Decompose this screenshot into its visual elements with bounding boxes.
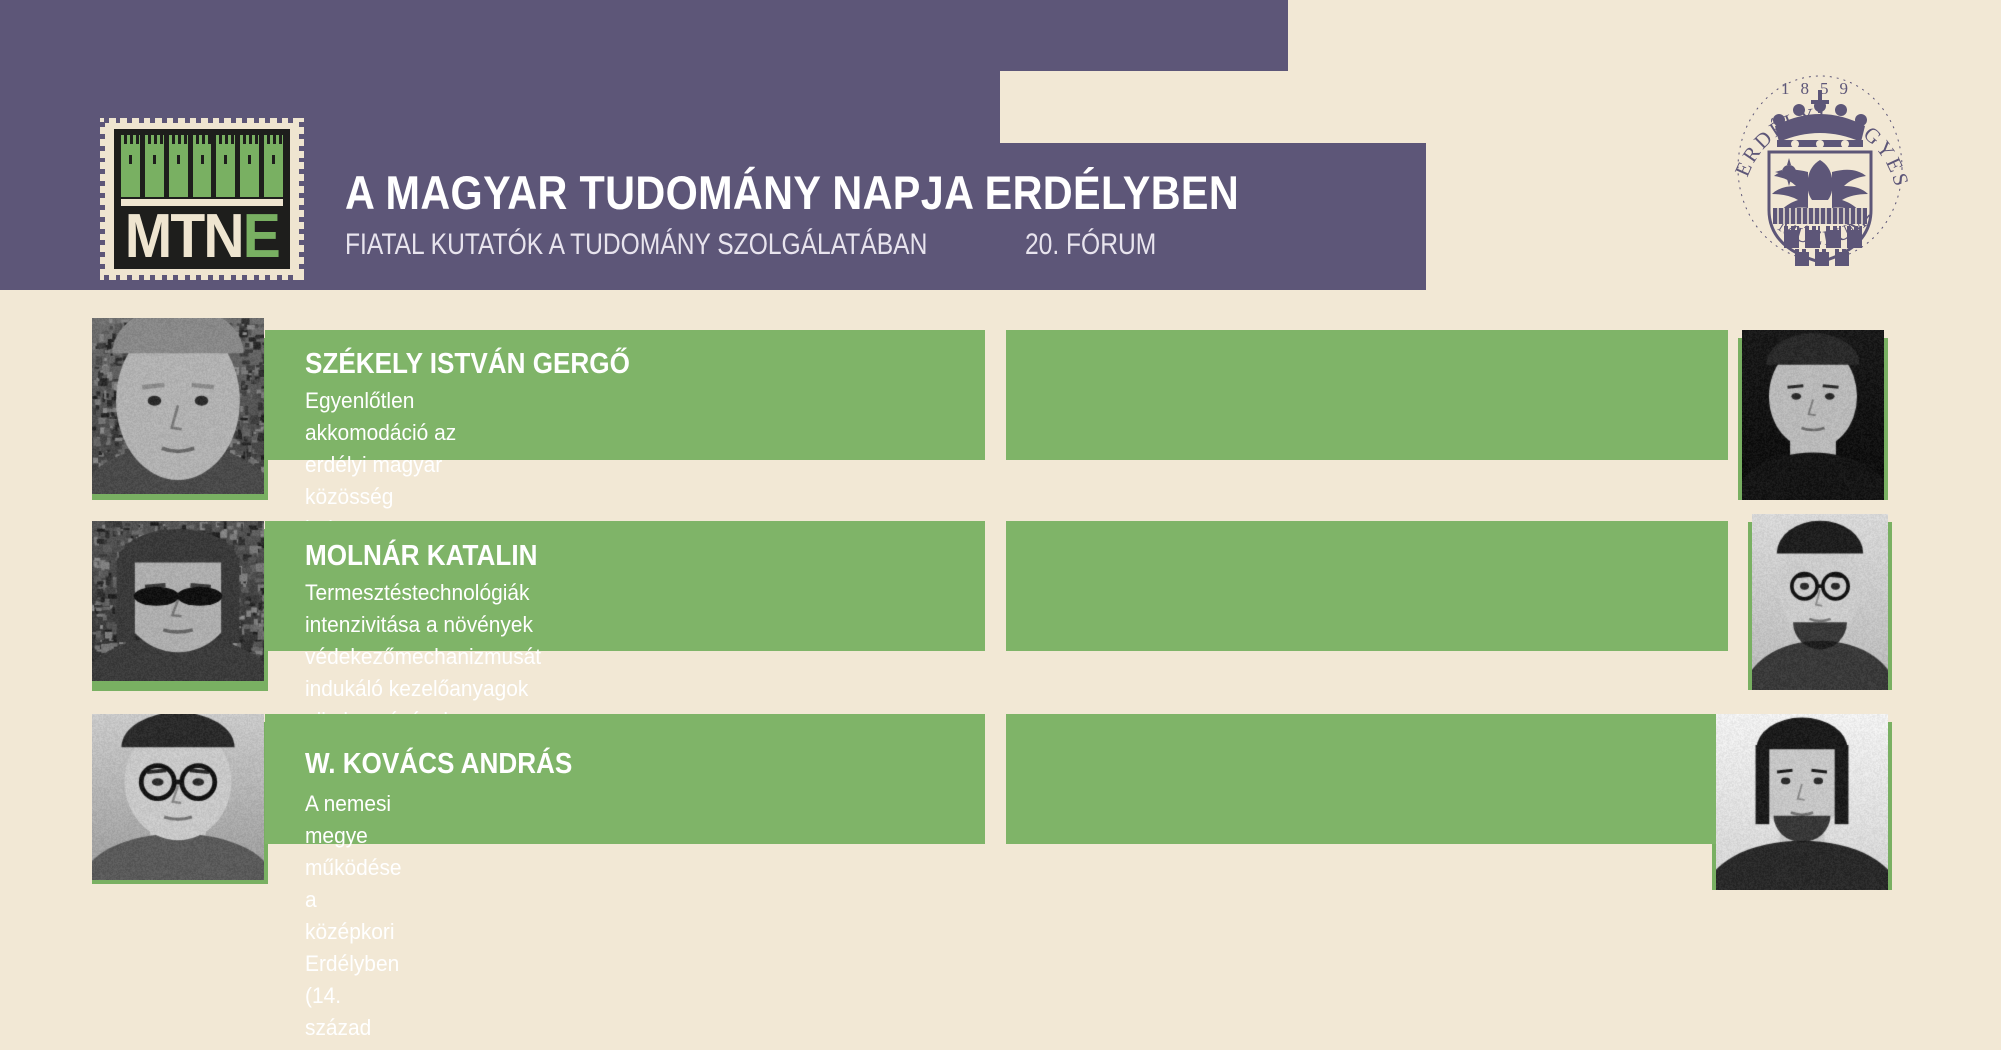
stamp-perforation bbox=[208, 275, 213, 280]
stamp-perforation bbox=[127, 275, 132, 280]
stamp-perforation bbox=[299, 181, 304, 186]
stamp-perforation bbox=[196, 118, 201, 123]
stamp-perforation bbox=[288, 275, 293, 280]
stamp-perforation bbox=[162, 275, 167, 280]
stamp-perforation bbox=[100, 240, 105, 245]
presenter-description: Termesztéstechnológiák intenzivitása a n… bbox=[305, 577, 541, 737]
stamp-perforation bbox=[231, 275, 236, 280]
stamp-perforation bbox=[299, 134, 304, 139]
mtne-wordmark: MTNE bbox=[121, 208, 283, 265]
stamp-perforation bbox=[299, 169, 304, 174]
stamp-perforation bbox=[299, 193, 304, 198]
presenter-photo bbox=[1742, 330, 1884, 500]
stamp-perforation bbox=[254, 275, 259, 280]
poster-subtitle: FIATAL KUTATÓK A TUDOMÁNY SZOLGÁLATÁBAN bbox=[345, 228, 927, 262]
stamp-perforation bbox=[100, 264, 105, 269]
eme-crest-svg: ERDÉLYI EGYESÜLET MÚZEUM- 1859 bbox=[1723, 68, 1918, 268]
stamp-perforation bbox=[104, 275, 109, 280]
stamp-perforation bbox=[100, 193, 105, 198]
card-panel bbox=[1006, 521, 1728, 651]
stamp-perforation bbox=[100, 158, 105, 163]
stamp-perforation bbox=[100, 205, 105, 210]
stamp-perforation bbox=[208, 118, 213, 123]
eme-crest-logo: ERDÉLYI EGYESÜLET MÚZEUM- 1859 bbox=[1723, 68, 1918, 268]
stamp-perforation bbox=[265, 118, 270, 123]
stamp-perforation bbox=[173, 275, 178, 280]
stamp-perforation bbox=[100, 146, 105, 151]
presenter-name: W. KOVÁCS ANDRÁS bbox=[305, 748, 572, 781]
poster-title: A MAGYAR TUDOMÁNY NAPJA ERDÉLYBEN bbox=[345, 165, 1239, 220]
stamp-perforation bbox=[288, 118, 293, 123]
stamp-perforation bbox=[150, 275, 155, 280]
stamp-perforation bbox=[100, 181, 105, 186]
stamp-perforation bbox=[173, 118, 178, 123]
stamp-perforation bbox=[299, 146, 304, 151]
presenter-photo bbox=[1752, 514, 1888, 690]
stamp-perforation bbox=[299, 217, 304, 222]
presenter-photo bbox=[1716, 714, 1888, 890]
castle-towers-icon bbox=[121, 135, 283, 197]
stamp-perforation bbox=[299, 158, 304, 163]
stamp-perforation bbox=[299, 240, 304, 245]
forum-number: 20. FÓRUM bbox=[1025, 228, 1156, 262]
stamp-perforation bbox=[100, 169, 105, 174]
stamp-perforation bbox=[139, 275, 144, 280]
stamp-perforation bbox=[100, 252, 105, 257]
presenter-name: SZÉKELY ISTVÁN GERGŐ bbox=[305, 348, 630, 381]
stamp-perforation bbox=[116, 275, 121, 280]
stamp-perforation bbox=[100, 217, 105, 222]
header-step-top bbox=[0, 0, 1288, 71]
stamp-perforation bbox=[299, 229, 304, 234]
stamp-perforation bbox=[265, 275, 270, 280]
mtne-logo: MTNE bbox=[100, 118, 304, 280]
stamp-perforation bbox=[185, 118, 190, 123]
poster-root: MTNE A MAGYAR TUDOMÁNY NAPJA ERDÉLYBEN F… bbox=[0, 0, 2001, 1050]
stamp-perforation bbox=[277, 118, 282, 123]
mtne-letter-e: E bbox=[243, 202, 279, 269]
stamp-perforation bbox=[196, 275, 201, 280]
stamp-perforation bbox=[299, 122, 304, 127]
stamp-perforation bbox=[242, 275, 247, 280]
stamp-perforation bbox=[277, 275, 282, 280]
stamp-perforation bbox=[242, 118, 247, 123]
stamp-perforation bbox=[162, 118, 167, 123]
card-panel bbox=[1006, 330, 1728, 460]
stamp-perforation bbox=[231, 118, 236, 123]
card-panel bbox=[1006, 714, 1728, 844]
footer: TÁMOGATÓ KÉSZÜLT A MAGYAR KORMÁNY TÁMOGA… bbox=[0, 925, 2001, 1045]
stamp-perforation bbox=[219, 275, 224, 280]
stamp-perforation bbox=[116, 118, 121, 123]
stamp-perforation bbox=[254, 118, 259, 123]
presenter-photo bbox=[92, 318, 264, 494]
stamp-perforation bbox=[100, 229, 105, 234]
stamp-perforation bbox=[100, 134, 105, 139]
presenter-photo bbox=[92, 714, 264, 880]
stamp-perforation bbox=[139, 118, 144, 123]
description-line: Termesztéstechnológiák intenzivitása a n… bbox=[305, 577, 541, 673]
presenter-name: MOLNÁR KATALIN bbox=[305, 540, 537, 573]
stamp-perforation bbox=[299, 264, 304, 269]
presenter-photo bbox=[92, 521, 264, 681]
stamp-perforation bbox=[185, 275, 190, 280]
stamp-perforation bbox=[299, 252, 304, 257]
stamp-perforation bbox=[219, 118, 224, 123]
mtne-logo-inner: MTNE bbox=[114, 129, 290, 269]
stamp-perforation bbox=[100, 122, 105, 127]
stamp-perforation bbox=[127, 118, 132, 123]
stamp-perforation bbox=[150, 118, 155, 123]
mtne-letters-mtn: MTN bbox=[125, 202, 243, 269]
stamp-perforation bbox=[299, 205, 304, 210]
